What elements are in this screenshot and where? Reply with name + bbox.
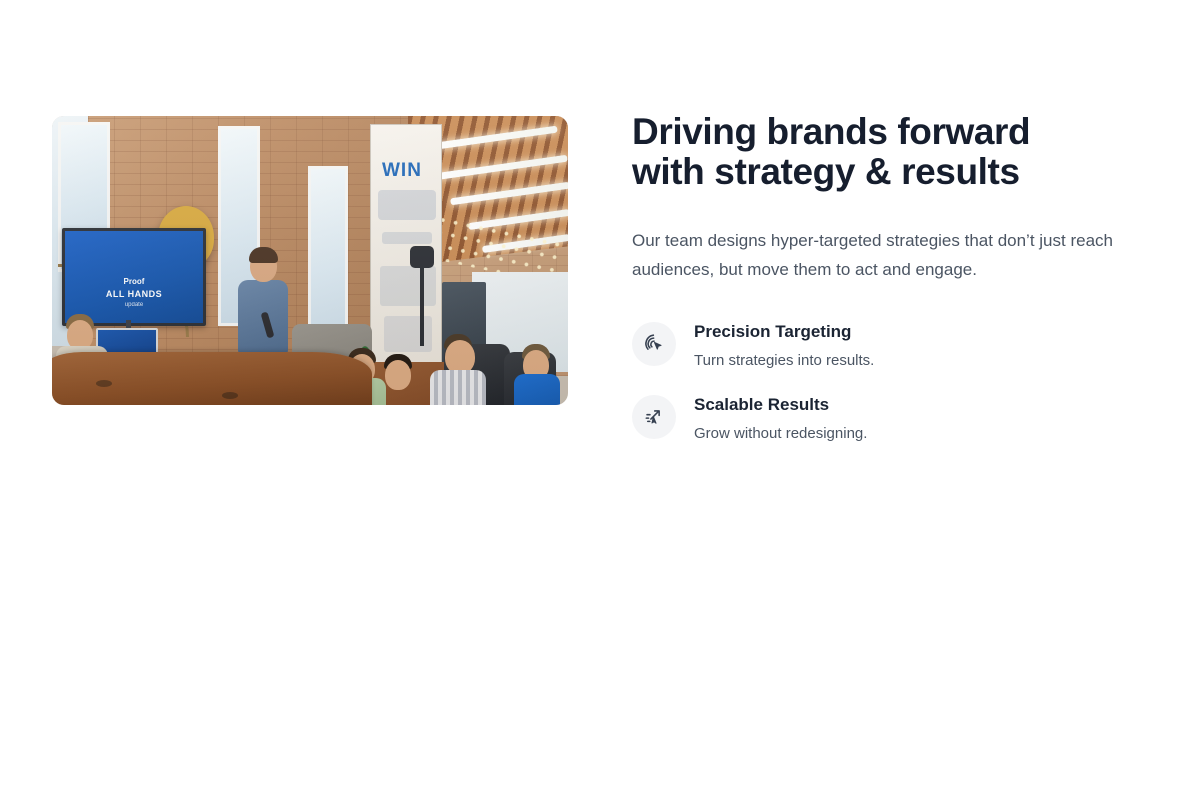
feature-title: Scalable Results [694, 394, 867, 416]
presentation-screen: Proof ALL HANDS update [62, 228, 206, 326]
headline-line-2: with strategy & results [632, 151, 1020, 192]
screen-brand: Proof [65, 277, 203, 286]
speaker-hair [249, 247, 278, 263]
media-card: WIN Proof ALL HANDS update [52, 116, 568, 405]
feature-section: WIN Proof ALL HANDS update [0, 0, 1200, 800]
feature-description: Grow without redesigning. [694, 416, 867, 444]
mural-sketch-4 [384, 316, 432, 352]
content-column: Driving brands forward with strategy & r… [632, 112, 1152, 444]
attendee-4-head [445, 340, 475, 374]
table-puck-2 [222, 392, 238, 399]
feature-description: Turn strategies into results. [694, 343, 874, 371]
screen-subtitle: update [65, 302, 203, 308]
screen-title: ALL HANDS [65, 289, 203, 299]
attendee-3-head [385, 360, 411, 390]
page-title: Driving brands forward with strategy & r… [632, 112, 1152, 192]
cursor-target-icon [632, 322, 676, 366]
mural-sketch-3 [380, 266, 436, 306]
attendee-4-body [430, 370, 486, 405]
feature-list: Precision Targeting Turn strategies into… [632, 284, 1152, 444]
attendee-5-body [514, 374, 560, 405]
office-meeting-photo: WIN Proof ALL HANDS update [52, 116, 568, 405]
feature-item-precision-targeting: Precision Targeting Turn strategies into… [632, 320, 1152, 371]
conference-table [52, 352, 372, 405]
section-description: Our team designs hyper-targeted strategi… [632, 192, 1148, 284]
feature-text-block: Scalable Results Grow without redesignin… [694, 393, 867, 444]
table-puck-1 [96, 380, 112, 387]
mural-sketch-2 [382, 232, 432, 244]
growth-arrow-icon [632, 395, 676, 439]
mural-sketch-1 [378, 190, 436, 220]
headline-line-1: Driving brands forward [632, 111, 1030, 152]
feature-text-block: Precision Targeting Turn strategies into… [694, 320, 874, 371]
feature-title: Precision Targeting [694, 321, 874, 343]
pa-speaker-stand [420, 260, 424, 346]
win-wall-text: WIN [382, 160, 422, 182]
feature-item-scalable-results: Scalable Results Grow without redesignin… [632, 393, 1152, 444]
